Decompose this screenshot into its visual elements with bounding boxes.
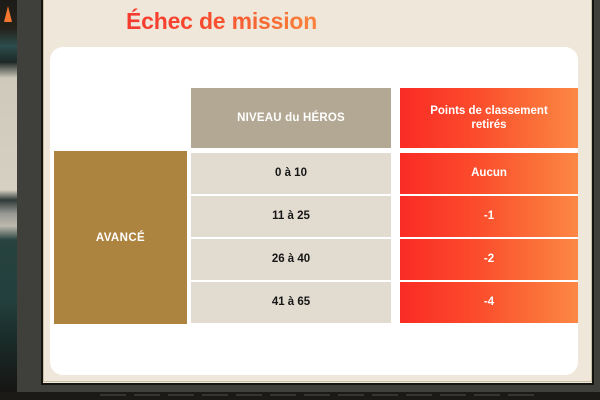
table-row: -4 — [400, 282, 578, 323]
table-row: Aucun — [400, 153, 578, 194]
slide-surface: Échec de mission AVANCÉ NIVEAU du HÉROS … — [44, 0, 591, 381]
tier-label-avance: AVANCÉ — [54, 151, 187, 324]
table-row: 41 à 65 — [191, 282, 391, 323]
table-row: 26 à 40 — [191, 239, 391, 280]
table-row: 11 à 25 — [191, 196, 391, 237]
ranking-penalty-table: AVANCÉ NIVEAU du HÉROS Points de classem… — [44, 0, 591, 381]
slide-frame: Échec de mission AVANCÉ NIVEAU du HÉROS … — [17, 0, 600, 392]
table-row: 0 à 10 — [191, 153, 391, 194]
column-header-rank-points-removed: Points de classement retirés — [400, 88, 578, 148]
table-row: -2 — [400, 239, 578, 280]
orange-marker-icon — [4, 6, 12, 22]
table-row: -1 — [400, 196, 578, 237]
column-header-hero-level: NIVEAU du HÉROS — [191, 88, 391, 148]
taskbar-strip — [0, 392, 600, 400]
background-window-sliver — [0, 0, 17, 392]
